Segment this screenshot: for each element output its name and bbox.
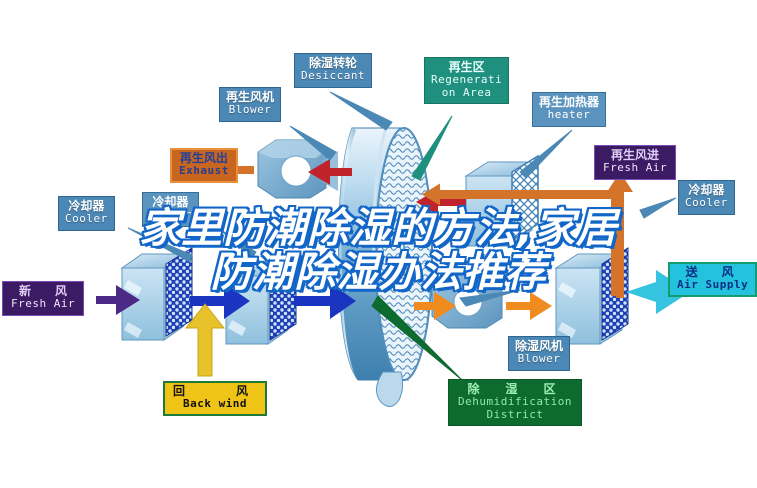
arrow-dehum-flow-2 (506, 292, 552, 320)
diagram-canvas: xt (0, 0, 757, 488)
page-title-line-2: 防潮除湿办法推荐 (0, 250, 757, 294)
page-title-line-1: 家里防潮除湿的方法,家居 (0, 206, 757, 250)
label-desiccant-wheel-cn: 除湿转轮 (301, 57, 365, 70)
label-regeneration-area-en2: on Area (431, 87, 502, 99)
label-dehumidification-district-cn: 除 湿 区 (458, 383, 572, 396)
label-regeneration-blower-cn: 再生风机 (226, 91, 274, 104)
label-regeneration-area-en: Regenerati (431, 74, 502, 86)
label-regeneration-blower-en: Blower (226, 104, 274, 116)
label-dehumidification-blower: 除湿风机 Blower (508, 336, 570, 371)
label-dehumidification-district: 除 湿 区 Dehumidification District (448, 379, 582, 426)
label-regen-fresh-air-en: Fresh Air (603, 162, 667, 174)
page-title: 家里防潮除湿的方法,家居 防潮除湿办法推荐 (0, 206, 757, 294)
label-dehumidification-blower-cn: 除湿风机 (515, 340, 563, 353)
label-dehumidification-district-en: Dehumidification (458, 396, 572, 408)
label-regeneration-heater: 再生加热器 heater (532, 92, 606, 127)
label-exhaust-cn: 再生风出 (179, 152, 229, 165)
label-back-wind-cn: 回 风 (173, 385, 257, 398)
label-regeneration-area: 再生区 Regenerati on Area (424, 57, 509, 104)
label-back-wind: 回 风 Back wind (163, 381, 267, 416)
label-cooler-right-cn: 冷却器 (685, 184, 728, 197)
label-dehumidification-blower-en: Blower (515, 353, 563, 365)
label-regen-fresh-air-cn: 再生风进 (603, 149, 667, 162)
label-exhaust: 再生风出 Exhaust (170, 148, 238, 183)
label-dehumidification-district-en2: District (458, 409, 572, 421)
label-regeneration-area-cn: 再生区 (431, 61, 502, 74)
label-back-wind-en: Back wind (173, 398, 257, 410)
label-desiccant-wheel-en: Desiccant (301, 70, 365, 82)
label-fresh-air-en: Fresh Air (11, 298, 75, 310)
label-regeneration-blower: 再生风机 Blower (219, 87, 281, 122)
label-exhaust-en: Exhaust (179, 165, 229, 177)
label-desiccant-wheel: 除湿转轮 Desiccant (294, 53, 372, 88)
label-regeneration-heater-en: heater (539, 109, 599, 121)
label-regeneration-heater-cn: 再生加热器 (539, 96, 599, 109)
label-regen-fresh-air: 再生风进 Fresh Air (594, 145, 676, 180)
